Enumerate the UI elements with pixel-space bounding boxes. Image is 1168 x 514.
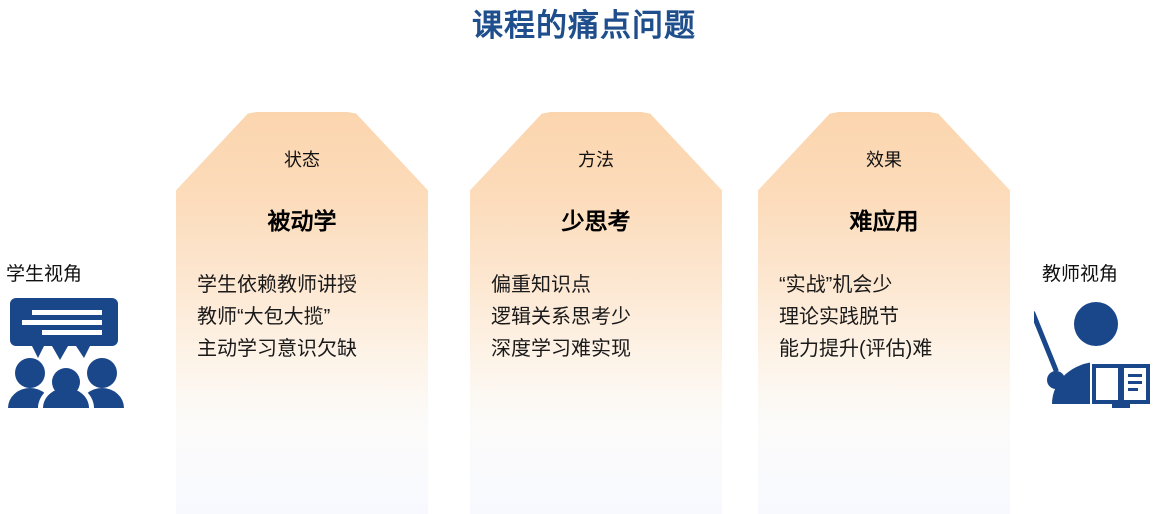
panel-body-line: 主动学习意识欠缺 bbox=[197, 333, 413, 365]
panel-header-label: 效果 bbox=[758, 148, 1010, 172]
teacher-perspective-label: 教师视角 bbox=[1034, 262, 1168, 288]
panel-body-line: 学生依赖教师讲授 bbox=[197, 269, 413, 301]
panel-title-label: 少思考 bbox=[470, 206, 722, 236]
students-speech-group-icon bbox=[6, 296, 146, 408]
panel-body-list: 偏重知识点 逻辑关系思考少 深度学习难实现 bbox=[491, 269, 707, 365]
panel-header-label: 方法 bbox=[470, 148, 722, 172]
panel-body-line: “实战”机会少 bbox=[779, 269, 995, 301]
student-perspective-block: 学生视角 bbox=[6, 262, 146, 408]
panel-body-line: 偏重知识点 bbox=[491, 269, 707, 301]
panel-body-line: 理论实践脱节 bbox=[779, 301, 995, 333]
panel-title-label: 被动学 bbox=[176, 206, 428, 236]
panel-body-line: 深度学习难实现 bbox=[491, 333, 707, 365]
panel-body-line: 逻辑关系思考少 bbox=[491, 301, 707, 333]
pentagon-panel-method[interactable]: 方法 少思考 偏重知识点 逻辑关系思考少 深度学习难实现 bbox=[470, 112, 722, 514]
panel-body-list: 学生依赖教师讲授 教师“大包大揽” 主动学习意识欠缺 bbox=[197, 269, 413, 365]
pentagon-panel-status[interactable]: 状态 被动学 学生依赖教师讲授 教师“大包大揽” 主动学习意识欠缺 bbox=[176, 112, 428, 514]
page-title: 课程的痛点问题 bbox=[0, 6, 1168, 46]
teacher-pointer-book-icon bbox=[1034, 296, 1168, 408]
student-perspective-label: 学生视角 bbox=[6, 262, 146, 288]
panel-header-label: 状态 bbox=[176, 148, 428, 172]
pentagon-panel-effect[interactable]: 效果 难应用 “实战”机会少 理论实践脱节 能力提升(评估)难 bbox=[758, 112, 1010, 514]
teacher-perspective-block: 教师视角 bbox=[1034, 262, 1168, 408]
slide-canvas: 课程的痛点问题 状态 被动学 学生依赖教师讲授 教师“大包大揽” 主动学习意识欠… bbox=[0, 0, 1168, 514]
panel-body-line: 教师“大包大揽” bbox=[197, 301, 413, 333]
panel-body-line: 能力提升(评估)难 bbox=[779, 333, 995, 365]
panel-body-list: “实战”机会少 理论实践脱节 能力提升(评估)难 bbox=[779, 269, 995, 365]
panel-title-label: 难应用 bbox=[758, 206, 1010, 236]
